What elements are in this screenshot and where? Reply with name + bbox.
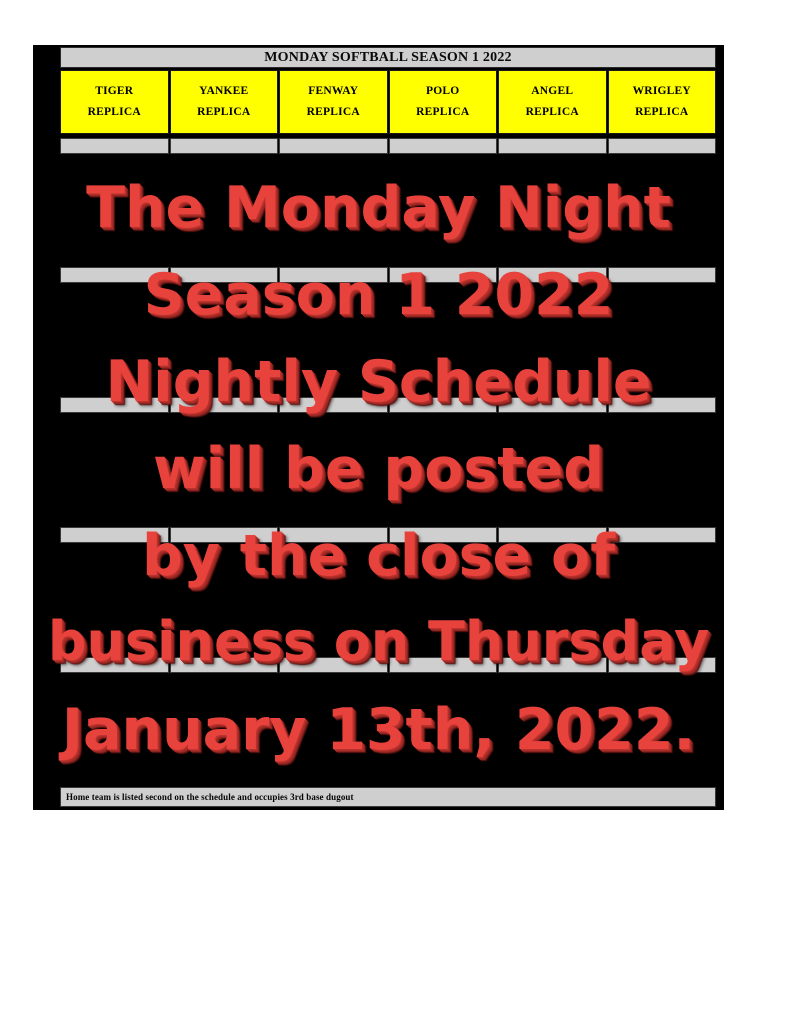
footer-note-row: Home team is listed second on the schedu… <box>60 787 716 807</box>
schedule-row <box>60 397 716 413</box>
schedule-cell[interactable] <box>170 657 279 673</box>
schedule-cell[interactable] <box>279 397 388 413</box>
schedule-cell[interactable] <box>170 527 279 543</box>
schedule-cell[interactable] <box>279 527 388 543</box>
team-name: TIGER <box>95 86 133 98</box>
page-title: MONDAY SOFTBALL SEASON 1 2022 <box>264 50 511 66</box>
schedule-row <box>60 527 716 543</box>
team-cell-polo[interactable]: POLO REPLICA <box>389 70 498 134</box>
team-name: ANGEL <box>531 86 573 98</box>
team-name: WRIGLEY <box>633 86 691 98</box>
team-header-row: TIGER REPLICA YANKEE REPLICA FENWAY REPL… <box>60 70 716 134</box>
poster-page: MONDAY SOFTBALL SEASON 1 2022 TIGER REPL… <box>0 0 791 1024</box>
schedule-cell[interactable] <box>60 267 169 283</box>
schedule-cell[interactable] <box>389 527 498 543</box>
team-type: REPLICA <box>635 107 688 119</box>
schedule-cell[interactable] <box>279 138 388 154</box>
schedule-cell[interactable] <box>170 138 279 154</box>
team-type: REPLICA <box>526 107 579 119</box>
schedule-cell[interactable] <box>498 527 607 543</box>
schedule-table: MONDAY SOFTBALL SEASON 1 2022 TIGER REPL… <box>60 45 716 810</box>
schedule-cell[interactable] <box>608 267 717 283</box>
team-cell-tiger[interactable]: TIGER REPLICA <box>60 70 169 134</box>
schedule-poster: MONDAY SOFTBALL SEASON 1 2022 TIGER REPL… <box>33 45 724 810</box>
schedule-cell[interactable] <box>60 527 169 543</box>
schedule-row <box>60 267 716 283</box>
schedule-cell[interactable] <box>279 657 388 673</box>
team-type: REPLICA <box>197 107 250 119</box>
schedule-cell[interactable] <box>498 397 607 413</box>
schedule-cell[interactable] <box>279 267 388 283</box>
schedule-cell[interactable] <box>170 397 279 413</box>
team-cell-wrigley[interactable]: WRIGLEY REPLICA <box>608 70 717 134</box>
team-type: REPLICA <box>88 107 141 119</box>
footer-note: Home team is listed second on the schedu… <box>61 792 354 802</box>
schedule-row <box>60 138 716 154</box>
schedule-cell[interactable] <box>60 657 169 673</box>
schedule-cell[interactable] <box>389 267 498 283</box>
team-cell-yankee[interactable]: YANKEE REPLICA <box>170 70 279 134</box>
schedule-cell[interactable] <box>170 267 279 283</box>
schedule-cell[interactable] <box>389 657 498 673</box>
schedule-cell[interactable] <box>389 138 498 154</box>
schedule-cell[interactable] <box>498 138 607 154</box>
schedule-cell[interactable] <box>60 397 169 413</box>
team-type: REPLICA <box>307 107 360 119</box>
team-cell-angel[interactable]: ANGEL REPLICA <box>498 70 607 134</box>
team-type: REPLICA <box>416 107 469 119</box>
team-name: YANKEE <box>199 86 248 98</box>
schedule-cell[interactable] <box>608 397 717 413</box>
schedule-cell[interactable] <box>60 138 169 154</box>
schedule-cell[interactable] <box>608 138 717 154</box>
schedule-cell[interactable] <box>608 527 717 543</box>
schedule-cell[interactable] <box>498 267 607 283</box>
schedule-cell[interactable] <box>498 657 607 673</box>
schedule-cell[interactable] <box>389 397 498 413</box>
team-name: FENWAY <box>308 86 358 98</box>
schedule-row <box>60 657 716 673</box>
team-name: POLO <box>426 86 459 98</box>
schedule-cell[interactable] <box>608 657 717 673</box>
table-title-row: MONDAY SOFTBALL SEASON 1 2022 <box>60 47 716 68</box>
team-cell-fenway[interactable]: FENWAY REPLICA <box>279 70 388 134</box>
